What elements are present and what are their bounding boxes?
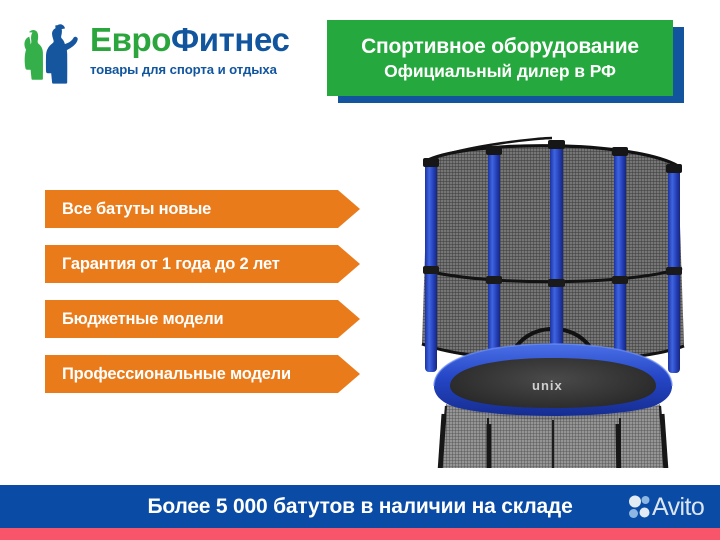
feature-list: Все батуты новые Гарантия от 1 года до 2… <box>45 190 365 393</box>
footer-accent-strip <box>0 528 720 540</box>
header-banner-face: Спортивное оборудование Официальный диле… <box>327 20 673 96</box>
feature-item: Профессиональные модели <box>45 355 360 393</box>
feature-item: Бюджетные модели <box>45 300 360 338</box>
feature-item: Гарантия от 1 года до 2 лет <box>45 245 360 283</box>
feature-label: Бюджетные модели <box>62 300 223 338</box>
feature-label: Все батуты новые <box>62 190 211 228</box>
trampoline-with-safety-net-photo: unix <box>392 118 712 468</box>
brand-text: ЕвроФитнес товары для спорта и отдыха <box>90 20 318 78</box>
footer-text: Более 5 000 батутов в наличии на складе <box>147 495 572 519</box>
feature-item: Все батуты новые <box>45 190 360 228</box>
brand-logo[interactable]: ЕвроФитнес товары для спорта и отдыха <box>16 20 316 90</box>
mat-brand-text: unix <box>532 378 563 393</box>
avito-watermark: Avito <box>628 491 716 523</box>
brand-tagline: товары для спорта и отдыха <box>90 61 318 78</box>
two-athletes-icon <box>16 22 88 84</box>
promo-banner-page: ЕвроФитнес товары для спорта и отдыха Сп… <box>0 0 720 540</box>
brand-name-blue: Фитнес <box>171 21 289 58</box>
avito-dots-icon <box>628 495 650 519</box>
feature-label: Гарантия от 1 года до 2 лет <box>62 245 280 283</box>
footer-bar: Более 5 000 батутов в наличии на складе <box>0 485 720 528</box>
header-banner-title: Спортивное оборудование <box>361 34 639 60</box>
brand-name-green: Евро <box>90 21 171 58</box>
brand-name: ЕвроФитнес <box>90 20 318 60</box>
avito-label: Avito <box>652 494 704 520</box>
header-banner-subtitle: Официальный дилер в РФ <box>384 60 616 83</box>
header-banner: Спортивное оборудование Официальный диле… <box>327 20 673 96</box>
feature-label: Профессиональные модели <box>62 355 291 393</box>
